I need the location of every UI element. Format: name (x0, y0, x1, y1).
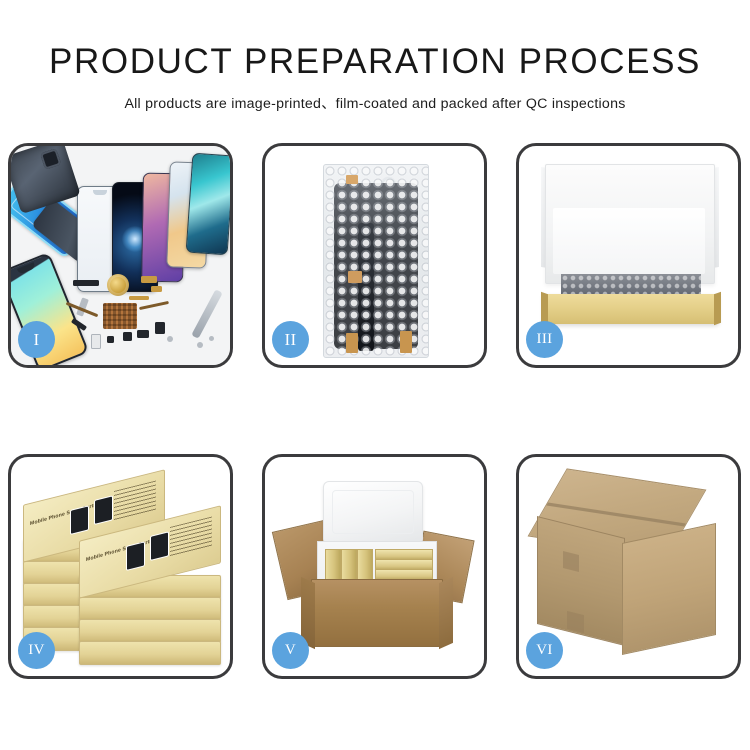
process-step-panel-2[interactable]: II (262, 143, 487, 368)
spec-text-lines (170, 517, 212, 557)
component-part (197, 342, 203, 348)
process-step-panel-4[interactable]: Mobile Phone Spare Parts Mobile Phone Sp… (8, 454, 233, 679)
product-photo-thumb (70, 505, 89, 535)
tape-piece-icon (346, 333, 358, 353)
step-badge-5: V (272, 632, 309, 669)
retail-box-edge (79, 619, 221, 643)
component-part (167, 336, 173, 342)
step-badge-1: I (18, 321, 55, 358)
process-step-panel-1[interactable]: I (8, 143, 233, 368)
styrofoam-lid-icon (323, 481, 423, 545)
bubble-highlight-layer (324, 165, 428, 357)
product-photo-thumb (94, 495, 113, 525)
product-photo-thumb (126, 541, 145, 571)
page-subtitle: All products are image-printed、film-coat… (0, 81, 750, 113)
component-part (73, 280, 99, 286)
tape-piece-icon (346, 175, 358, 184)
component-part (91, 334, 101, 349)
component-part (137, 330, 149, 338)
component-part (129, 296, 149, 300)
process-step-grid: I II III (8, 143, 742, 679)
process-step-panel-5[interactable]: V (262, 454, 487, 679)
step-badge-4: IV (18, 632, 55, 669)
tape-piece-icon (348, 271, 362, 283)
retail-box-edge (79, 641, 221, 665)
chip-grid-icon (103, 303, 137, 329)
component-part (155, 322, 165, 334)
step-badge-2: II (272, 321, 309, 358)
component-part (107, 336, 114, 343)
retail-box-edge (79, 597, 221, 621)
speaker-coil-icon (107, 274, 129, 296)
component-part (123, 332, 132, 341)
kraft-box-front-icon (543, 294, 719, 324)
step-badge-6: VI (526, 632, 563, 669)
carton-right-face-icon (622, 523, 716, 655)
step-badge-3: III (526, 321, 563, 358)
phone-display-teal-icon (186, 153, 230, 256)
process-step-panel-6[interactable]: VI (516, 454, 741, 679)
carton-front-icon (311, 579, 443, 647)
component-part (151, 286, 162, 292)
tape-piece-icon (400, 331, 412, 353)
page-title: PRODUCT PREPARATION PROCESS (0, 0, 750, 81)
page-header: PRODUCT PREPARATION PROCESS All products… (0, 0, 750, 113)
component-part (209, 336, 214, 341)
retail-box-stack-icon: Mobile Phone Spare Parts Mobile Phone Sp… (21, 481, 226, 661)
white-foam-sheet-icon (553, 208, 705, 274)
spec-text-lines (114, 481, 156, 521)
bubble-wrap-bag-icon (323, 164, 429, 358)
process-step-panel-3[interactable]: III (516, 143, 741, 368)
component-part (141, 276, 157, 283)
carton-tape-upper-icon (563, 551, 579, 572)
product-photo-thumb (150, 531, 169, 561)
